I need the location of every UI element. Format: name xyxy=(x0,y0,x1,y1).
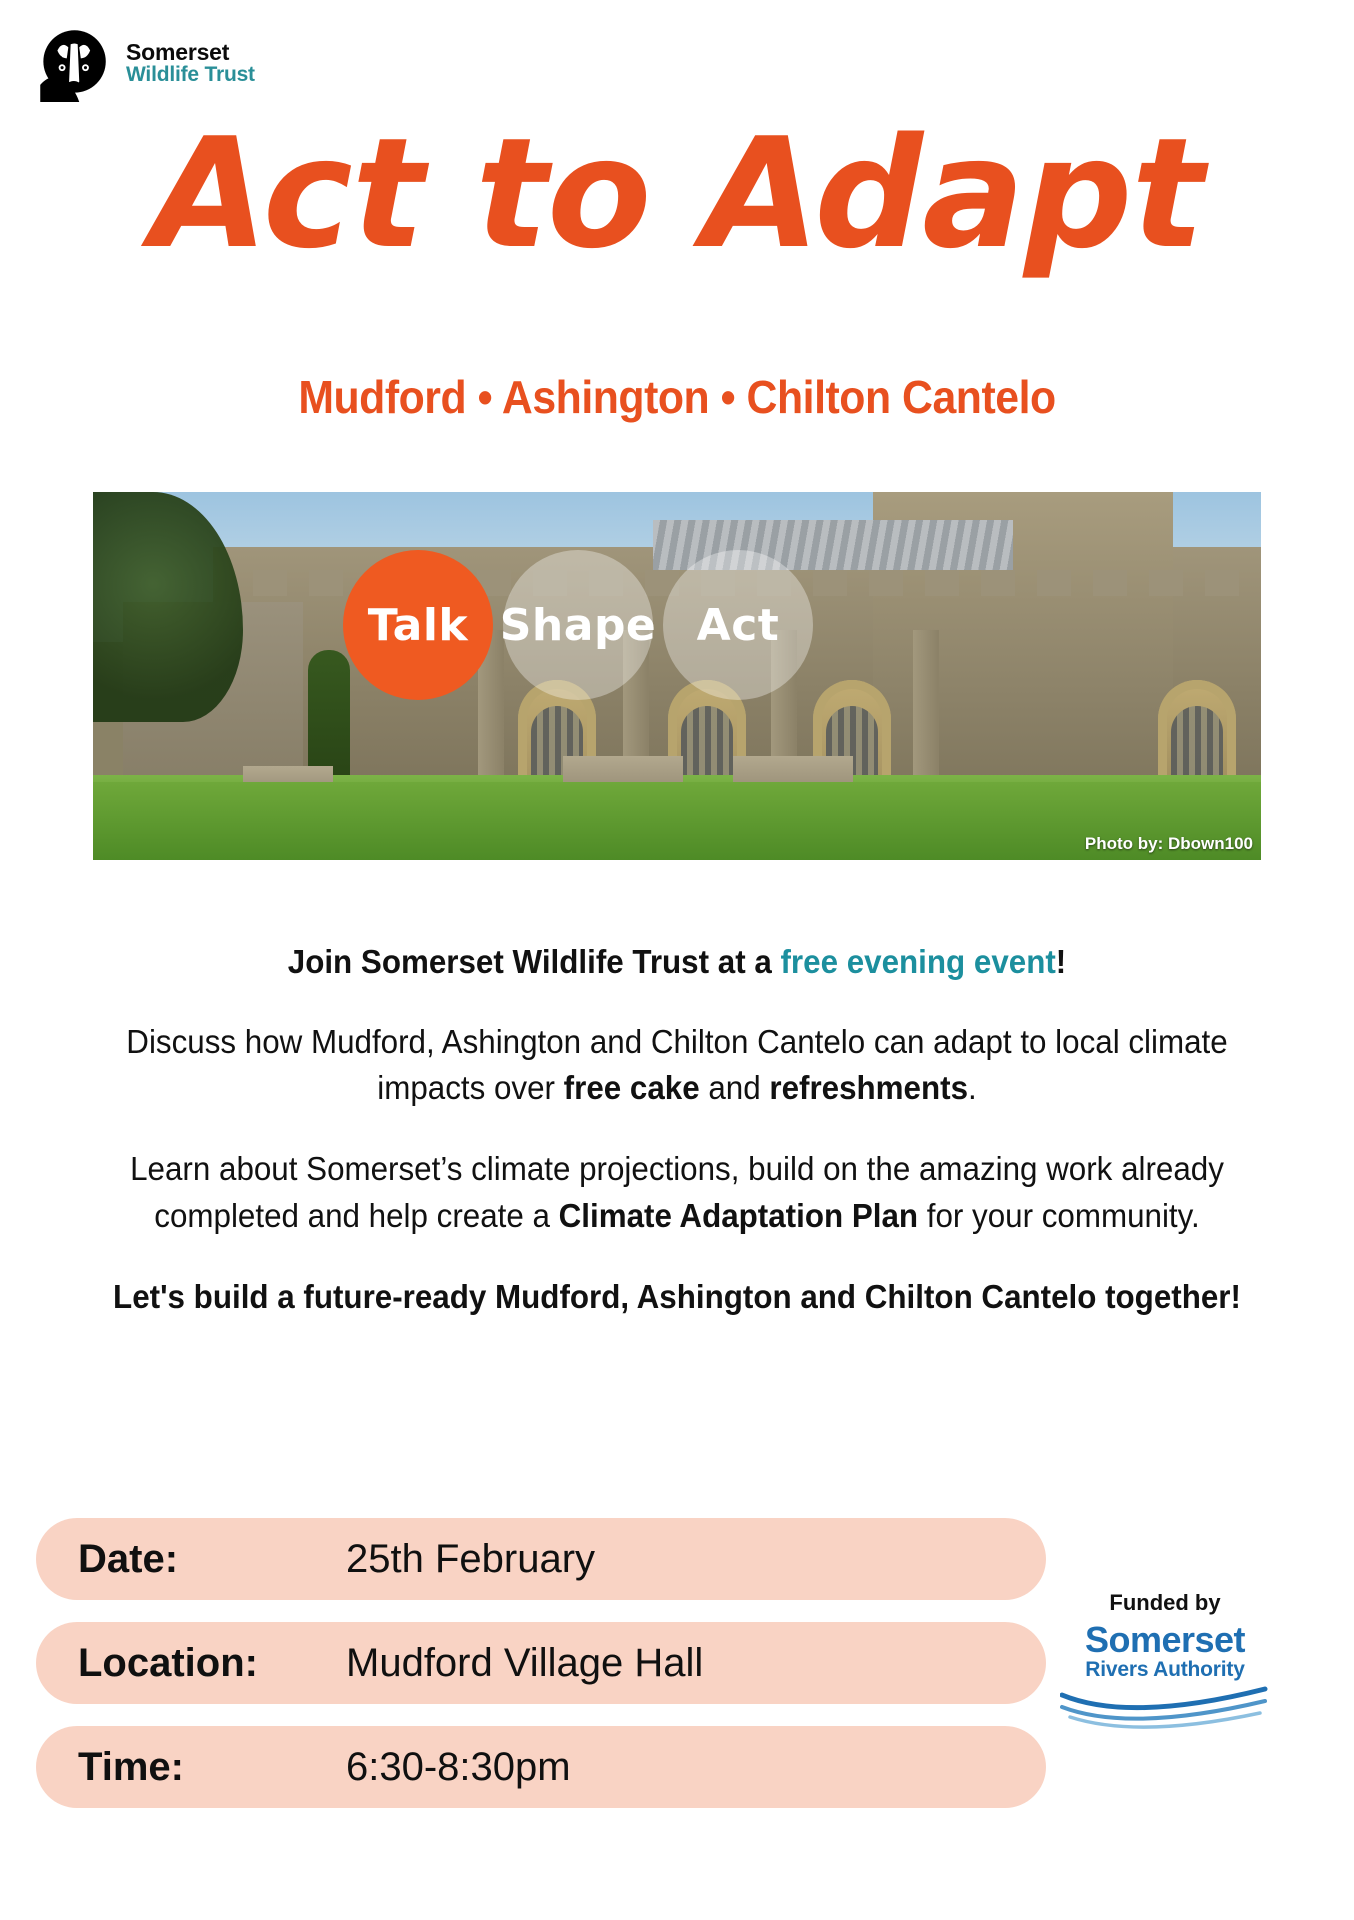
detail-row-location: Location: Mudford Village Hall xyxy=(36,1622,1046,1704)
brand-logo: Somerset Wildlife Trust xyxy=(34,24,255,102)
lede-part2: ! xyxy=(1056,943,1066,980)
closing-line: Let's build a future-ready Mudford, Ashi… xyxy=(91,1274,1263,1321)
brand-name-line2: Wildlife Trust xyxy=(126,64,255,86)
water-swoosh-icon xyxy=(1060,1683,1270,1729)
para2-b: Climate Adaptation Plan xyxy=(559,1197,918,1234)
detail-label-location: Location: xyxy=(36,1641,346,1686)
brand-name-line1: Somerset xyxy=(126,40,255,64)
detail-value-time: 6:30-8:30pm xyxy=(346,1745,571,1790)
para1-b: free cake xyxy=(564,1069,700,1106)
body-copy: Join Somerset Wildlife Trust at a free e… xyxy=(60,940,1294,1321)
circle-talk: Talk xyxy=(343,550,493,700)
badger-head-icon xyxy=(34,24,112,102)
detail-value-date: 25th February xyxy=(346,1537,595,1582)
funder-name-line2: Rivers Authority xyxy=(1060,1658,1270,1681)
lede-line: Join Somerset Wildlife Trust at a free e… xyxy=(91,940,1263,985)
detail-label-date: Date: xyxy=(36,1537,346,1582)
detail-label-time: Time: xyxy=(36,1745,346,1790)
para1-c: and xyxy=(700,1069,770,1106)
event-details: Date: 25th February Location: Mudford Vi… xyxy=(36,1518,1046,1830)
detail-row-time: Time: 6:30-8:30pm xyxy=(36,1726,1046,1808)
funder-block: Funded by Somerset Rivers Authority xyxy=(1040,1590,1290,1734)
paragraph-1: Discuss how Mudford, Ashington and Chilt… xyxy=(91,1019,1263,1113)
page-subtitle: Mudford • Ashington • Chilton Cantelo xyxy=(47,370,1306,424)
circle-shape: Shape xyxy=(503,550,653,700)
para1-d: refreshments xyxy=(769,1069,968,1106)
detail-row-date: Date: 25th February xyxy=(36,1518,1046,1600)
lede-part1: Join Somerset Wildlife Trust at a xyxy=(288,943,781,980)
lede-highlight: free evening event xyxy=(780,943,1055,980)
photo-credit: Photo by: Dbown100 xyxy=(1085,834,1253,854)
somerset-rivers-authority-logo: Somerset Rivers Authority xyxy=(1060,1622,1270,1734)
para1-e: . xyxy=(968,1069,977,1106)
hero-photo: Talk Shape Act Photo by: Dbown100 xyxy=(93,492,1261,860)
paragraph-2: Learn about Somerset’s climate projectio… xyxy=(91,1146,1263,1240)
detail-value-location: Mudford Village Hall xyxy=(346,1641,703,1686)
page-title: Act to Adapt xyxy=(0,118,1354,270)
circle-act: Act xyxy=(663,550,813,700)
funded-by-label: Funded by xyxy=(1040,1590,1290,1616)
funder-name-line1: Somerset xyxy=(1060,1622,1270,1658)
para2-c: for your community. xyxy=(918,1197,1200,1234)
